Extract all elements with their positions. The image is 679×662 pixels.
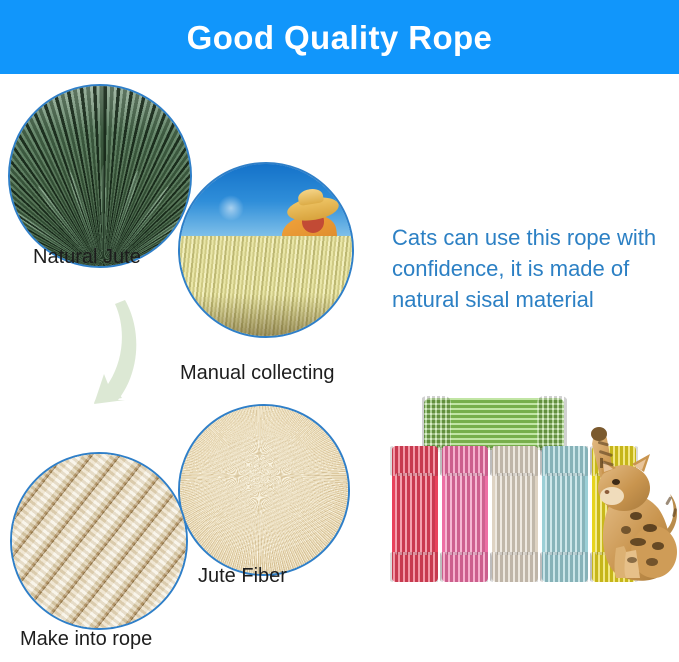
infographic-page: Good Quality Rope Natural Jute <box>0 0 679 662</box>
sun-glare <box>218 195 244 221</box>
sisal-plant-illustration <box>10 86 190 266</box>
harvest-field-illustration <box>180 164 352 336</box>
fiber-swirl <box>193 436 334 554</box>
page-title: Good Quality Rope <box>187 21 493 54</box>
caption-jute-fiber: Jute Fiber <box>198 565 287 588</box>
green-coil <box>424 398 564 450</box>
jute-fiber-illustration <box>180 406 348 574</box>
product-photo <box>384 398 676 608</box>
plant-sky <box>10 86 190 133</box>
cream-coil <box>492 446 538 582</box>
caption-make-into-rope: Make into rope <box>20 628 152 651</box>
image-natural-jute <box>8 84 192 268</box>
pink-coil <box>442 446 488 582</box>
header-banner: Good Quality Rope <box>0 0 679 74</box>
image-manual-collecting <box>178 162 354 338</box>
image-make-into-rope <box>10 452 188 630</box>
caption-manual-collecting: Manual collecting <box>180 362 335 385</box>
fiber-crop <box>180 236 352 336</box>
image-jute-fiber <box>178 404 350 576</box>
flow-arrow-icon <box>78 296 146 406</box>
coral-coil <box>392 446 438 582</box>
bengal-cat-illustration <box>566 412 679 602</box>
twisted-rope-illustration <box>12 454 186 628</box>
caption-natural-jute: Natural Jute <box>33 246 141 269</box>
promo-text: Cats can use this rope with confidence, … <box>392 222 660 316</box>
